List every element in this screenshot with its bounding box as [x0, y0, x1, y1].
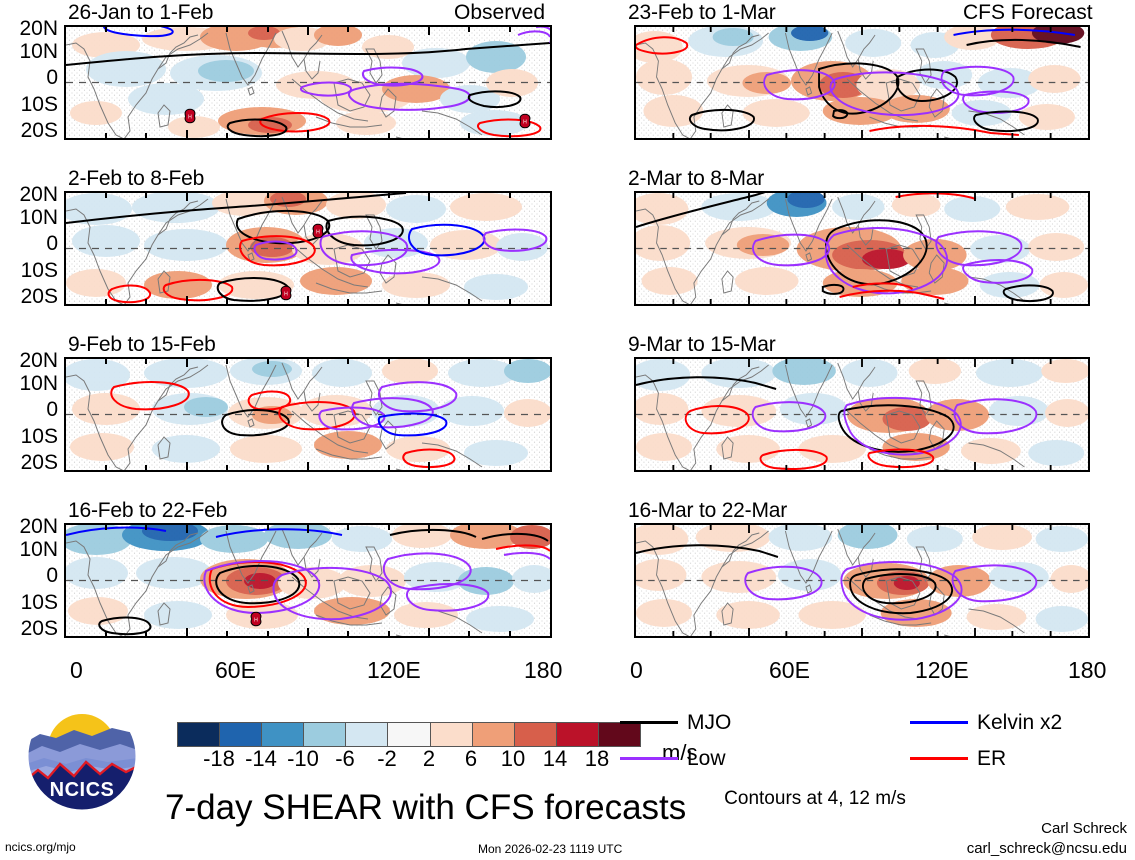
ylabel-10N-r1: 10N — [0, 207, 58, 228]
colorbar-cell-8 — [515, 723, 557, 746]
svg-text:H: H — [284, 292, 288, 298]
colorbar-cell-9 — [557, 723, 599, 746]
svg-text:H: H — [316, 230, 320, 236]
ylabel-10S-r2: 10S — [0, 426, 58, 447]
colorbar-tick--6: -6 — [335, 748, 355, 770]
legend-label-kelvin: Kelvin x2 — [977, 712, 1062, 733]
ylabel-10S-r1: 10S — [0, 260, 58, 281]
ylabel-20N-r2: 20N — [0, 350, 58, 371]
colorbar-tick--14: -14 — [245, 748, 277, 770]
legend-item-er: ER — [910, 748, 1006, 769]
map-panel-0[interactable]: H H — [64, 25, 552, 140]
colorbar-cell-7 — [473, 723, 515, 746]
ylabel-20S-r3: 20S — [0, 618, 58, 639]
main-title: 7-day SHEAR with CFS forecasts — [165, 790, 686, 825]
svg-text:H: H — [188, 115, 192, 121]
map-panel-3[interactable] — [634, 191, 1090, 306]
render-timestamp: Mon 2026-02-23 1119 UTC — [478, 842, 622, 856]
xlabel-180-right: 180 — [1068, 659, 1106, 682]
ylabel-20S-r2: 20S — [0, 452, 58, 473]
legend-item-mjo: MJO — [620, 712, 731, 733]
colorbar-cell-3 — [304, 723, 346, 746]
colorbar — [177, 722, 641, 747]
colorbar-tick--2: -2 — [377, 748, 397, 770]
xlabel-0-right: 0 — [630, 659, 643, 682]
map-panel-5[interactable] — [634, 357, 1090, 472]
panel-title-6: 16-Feb to 22-Feb — [68, 500, 227, 521]
map-panel-6[interactable]: H — [64, 523, 552, 638]
contour-note: Contours at 4, 12 m/s — [724, 789, 906, 808]
ylabel-10N-r0: 10N — [0, 41, 58, 62]
colorbar-tick-14: 14 — [543, 748, 567, 770]
panel-title-3: 2-Mar to 8-Mar — [628, 168, 764, 189]
column-header-cfs: CFS Forecast — [963, 2, 1093, 23]
legend-swatch-kelvin — [910, 721, 968, 724]
xlabel-120E-left: 120E — [367, 659, 421, 682]
author-name: Carl Schreck — [1041, 820, 1127, 837]
colorbar-cell-0 — [178, 723, 220, 746]
ylabel-10S-r0: 10S — [0, 94, 58, 115]
panel-title-7: 16-Mar to 22-Mar — [628, 500, 787, 521]
colorbar-tick-18: 18 — [585, 748, 609, 770]
legend-item-kelvin: Kelvin x2 — [910, 712, 1062, 733]
ylabel-20N-r0: 20N — [0, 18, 58, 39]
legend-label-er: ER — [977, 748, 1006, 769]
ylabel-20N-r1: 20N — [0, 184, 58, 205]
panel-title-4: 9-Feb to 15-Feb — [68, 334, 216, 355]
legend-swatch-er — [910, 757, 968, 760]
panel-title-5: 9-Mar to 15-Mar — [628, 334, 776, 355]
ylabel-10S-r3: 10S — [0, 592, 58, 613]
colorbar-tick--10: -10 — [287, 748, 319, 770]
ylabel-0-r1: 0 — [0, 233, 58, 254]
legend-label-mjo: MJO — [687, 712, 731, 733]
colorbar-tick-2: 2 — [423, 748, 435, 770]
xlabel-120E-right: 120E — [915, 659, 969, 682]
xlabel-0-left: 0 — [70, 659, 83, 682]
map-panel-2[interactable]: H H — [64, 191, 552, 306]
svg-text:H: H — [523, 120, 527, 126]
xlabel-180-left: 180 — [524, 659, 562, 682]
map-panel-7[interactable] — [634, 523, 1090, 638]
ylabel-20N-r3: 20N — [0, 516, 58, 537]
legend-swatch-low — [620, 757, 678, 760]
colorbar-tick-10: 10 — [501, 748, 525, 770]
ylabel-20S-r1: 20S — [0, 286, 58, 307]
panel-title-2: 2-Feb to 8-Feb — [68, 168, 204, 189]
svg-text:H: H — [254, 618, 258, 624]
ncics-logo: NCICS — [26, 700, 138, 812]
ylabel-0-r2: 0 — [0, 399, 58, 420]
colorbar-cell-2 — [262, 723, 304, 746]
site-url[interactable]: ncics.org/mjo — [5, 840, 76, 854]
xlabel-60E-right: 60E — [769, 659, 810, 682]
colorbar-tick-6: 6 — [465, 748, 477, 770]
panel-title-1: 23-Feb to 1-Mar — [628, 2, 776, 23]
map-panel-1[interactable] — [634, 25, 1090, 140]
map-panel-4[interactable] — [64, 357, 552, 472]
author-email[interactable]: carl_schreck@ncsu.edu — [967, 840, 1127, 857]
colorbar-cell-5 — [388, 723, 430, 746]
ylabel-10N-r2: 10N — [0, 373, 58, 394]
ylabel-10N-r3: 10N — [0, 539, 58, 560]
colorbar-cell-6 — [431, 723, 473, 746]
colorbar-tick--18: -18 — [203, 748, 235, 770]
legend-swatch-mjo — [620, 721, 678, 724]
colorbar-tick-labels: -18-14-10-6-226101418 — [177, 748, 639, 774]
colorbar-cell-4 — [346, 723, 388, 746]
figure-canvas: 26-Jan to 1-Feb Observed 2-Feb to 8-Feb … — [0, 0, 1135, 860]
legend-item-low: Low — [620, 748, 726, 769]
ylabel-20S-r0: 20S — [0, 120, 58, 141]
logo-text: NCICS — [50, 779, 115, 801]
column-header-observed: Observed — [454, 2, 545, 23]
ylabel-0-r0: 0 — [0, 67, 58, 88]
ylabel-0-r3: 0 — [0, 565, 58, 586]
panel-title-0: 26-Jan to 1-Feb — [68, 2, 213, 23]
xlabel-60E-left: 60E — [215, 659, 256, 682]
legend-label-low: Low — [687, 748, 726, 769]
colorbar-cell-1 — [220, 723, 262, 746]
